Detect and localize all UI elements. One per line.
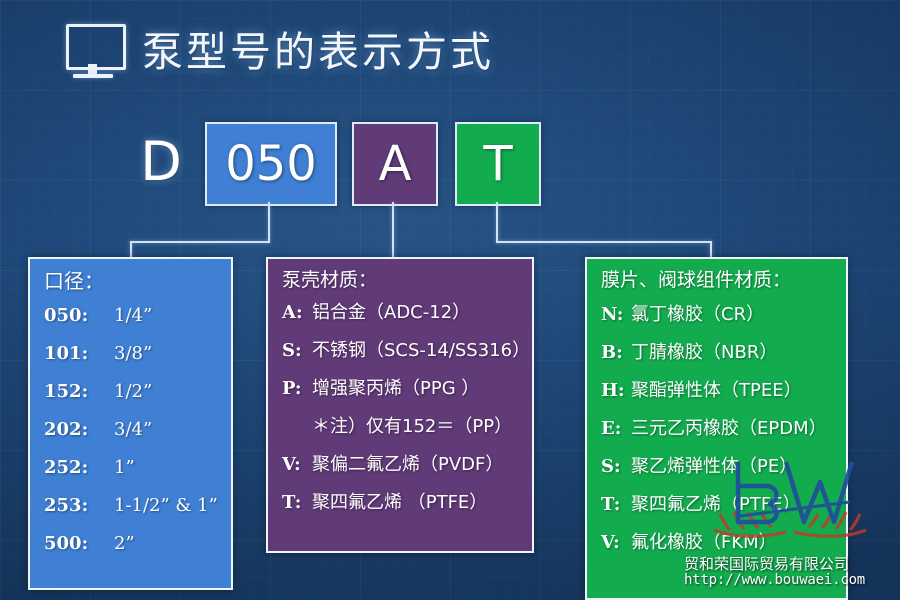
diaphragm-code: H: (601, 382, 619, 400)
bore-code: 050: (44, 307, 96, 325)
diaphragm-material: 聚乙烯弹性体（PE） (631, 458, 797, 476)
monitor-icon (62, 24, 124, 80)
list-item: 253: 1-1/2” & 1” (44, 497, 217, 515)
diaphragm-code: N: (601, 306, 619, 324)
casing-material: 不锈钢（SCS-14/SS316） (312, 342, 530, 360)
panel-bore-heading: 口径： (44, 271, 217, 291)
bore-code: 500: (44, 535, 96, 553)
casing-material: 聚偏二氟乙烯（PVDF） (312, 456, 503, 474)
list-item: 050: 1/4” (44, 307, 217, 325)
list-item: 202: 3/4” (44, 421, 217, 439)
code-segment-diaphragm[interactable]: T (455, 122, 541, 206)
code-segment-bore[interactable]: 050 (205, 122, 337, 206)
page-header: 泵型号的表示方式 (62, 24, 494, 80)
panel-casing-heading: 泵壳材质： (282, 271, 518, 290)
connector-dia-vertical-top (496, 202, 498, 242)
diaphragm-code: V: (601, 534, 619, 552)
casing-material: 增强聚丙烯（PPG ） (312, 380, 479, 398)
connector-dia-horizontal (496, 241, 712, 243)
bore-size: 3/8” (114, 345, 152, 363)
monitor-base (73, 74, 113, 78)
diaphragm-code: S: (601, 458, 619, 476)
list-item-note: ＊注）仅有152＝（PP） (282, 418, 518, 436)
bore-size: 1-1/2” & 1” (114, 497, 218, 515)
diaphragm-material: 聚四氟乙烯（PTFE） (631, 496, 801, 514)
diaphragm-material: 氯丁橡胶（CR） (631, 306, 764, 324)
bore-size: 1/4” (114, 307, 152, 325)
list-item: S: 不锈钢（SCS-14/SS316） (282, 342, 518, 360)
bore-code: 202: (44, 421, 96, 439)
list-item: V: 聚偏二氟乙烯（PVDF） (282, 456, 518, 474)
casing-material: 铝合金（ADC-12） (312, 304, 470, 322)
code-segment-prefix[interactable]: D (130, 123, 192, 201)
bore-size: 3/4” (114, 421, 152, 439)
list-item: P: 增强聚丙烯（PPG ） (282, 380, 518, 398)
list-item: N: 氯丁橡胶（CR） (601, 306, 832, 324)
list-item: V: 氟化橡胶（FKM） (601, 534, 832, 552)
list-item: A: 铝合金（ADC-12） (282, 304, 518, 322)
casing-note: ＊注）仅有152＝（PP） (312, 418, 512, 436)
list-item: T: 聚四氟乙烯 （PTFE） (282, 494, 518, 512)
bore-size: 1” (114, 459, 135, 477)
bore-code: 253: (44, 497, 96, 515)
monitor-neck (88, 64, 97, 74)
panel-diaphragm-heading: 膜片、阀球组件材质： (601, 271, 832, 290)
bore-code: 101: (44, 345, 96, 363)
diaphragm-code: T: (601, 496, 619, 514)
list-item: S: 聚乙烯弹性体（PE） (601, 458, 832, 476)
diaphragm-code: E: (601, 420, 619, 438)
list-item: B: 丁腈橡胶（NBR） (601, 344, 832, 362)
list-item: 101: 3/8” (44, 345, 217, 363)
bore-code: 252: (44, 459, 96, 477)
bore-size: 1/2” (114, 383, 152, 401)
list-item: H: 聚酯弹性体（TPEE） (601, 382, 832, 400)
panel-diaphragm-material: 膜片、阀球组件材质： N: 氯丁橡胶（CR） B: 丁腈橡胶（NBR） H: 聚… (585, 257, 848, 600)
casing-code: P: (282, 380, 300, 398)
page-title: 泵型号的表示方式 (142, 32, 494, 73)
list-item: 152: 1/2” (44, 383, 217, 401)
bore-code: 152: (44, 383, 96, 401)
casing-code: T: (282, 494, 300, 512)
connector-casing-vertical (392, 202, 394, 259)
bore-size: 2” (114, 535, 135, 553)
connector-bore-vertical-top (268, 202, 270, 242)
connector-bore-horizontal (130, 241, 270, 243)
casing-code: S: (282, 342, 300, 360)
slide-canvas: 泵型号的表示方式 D 050 A T 口径： 050: 1/4” 101: 3/… (0, 0, 900, 600)
list-item: E: 三元乙丙橡胶（EPDM） (601, 420, 832, 438)
diaphragm-material: 聚酯弹性体（TPEE） (631, 382, 802, 400)
list-item: 252: 1” (44, 459, 217, 477)
list-item: T: 聚四氟乙烯（PTFE） (601, 496, 832, 514)
code-segment-casing[interactable]: A (352, 122, 438, 206)
casing-material: 聚四氟乙烯 （PTFE） (312, 494, 487, 512)
panel-bore: 口径： 050: 1/4” 101: 3/8” 152: 1/2” 202: 3… (28, 257, 233, 590)
diaphragm-material: 氟化橡胶（FKM） (631, 534, 777, 552)
diaphragm-material: 丁腈橡胶（NBR） (631, 344, 777, 362)
casing-code: A: (282, 304, 300, 322)
diaphragm-code: B: (601, 344, 619, 362)
list-item: 500: 2” (44, 535, 217, 553)
panel-casing-material: 泵壳材质： A: 铝合金（ADC-12） S: 不锈钢（SCS-14/SS316… (266, 257, 534, 553)
casing-code: V: (282, 456, 300, 474)
diaphragm-material: 三元乙丙橡胶（EPDM） (631, 420, 827, 438)
